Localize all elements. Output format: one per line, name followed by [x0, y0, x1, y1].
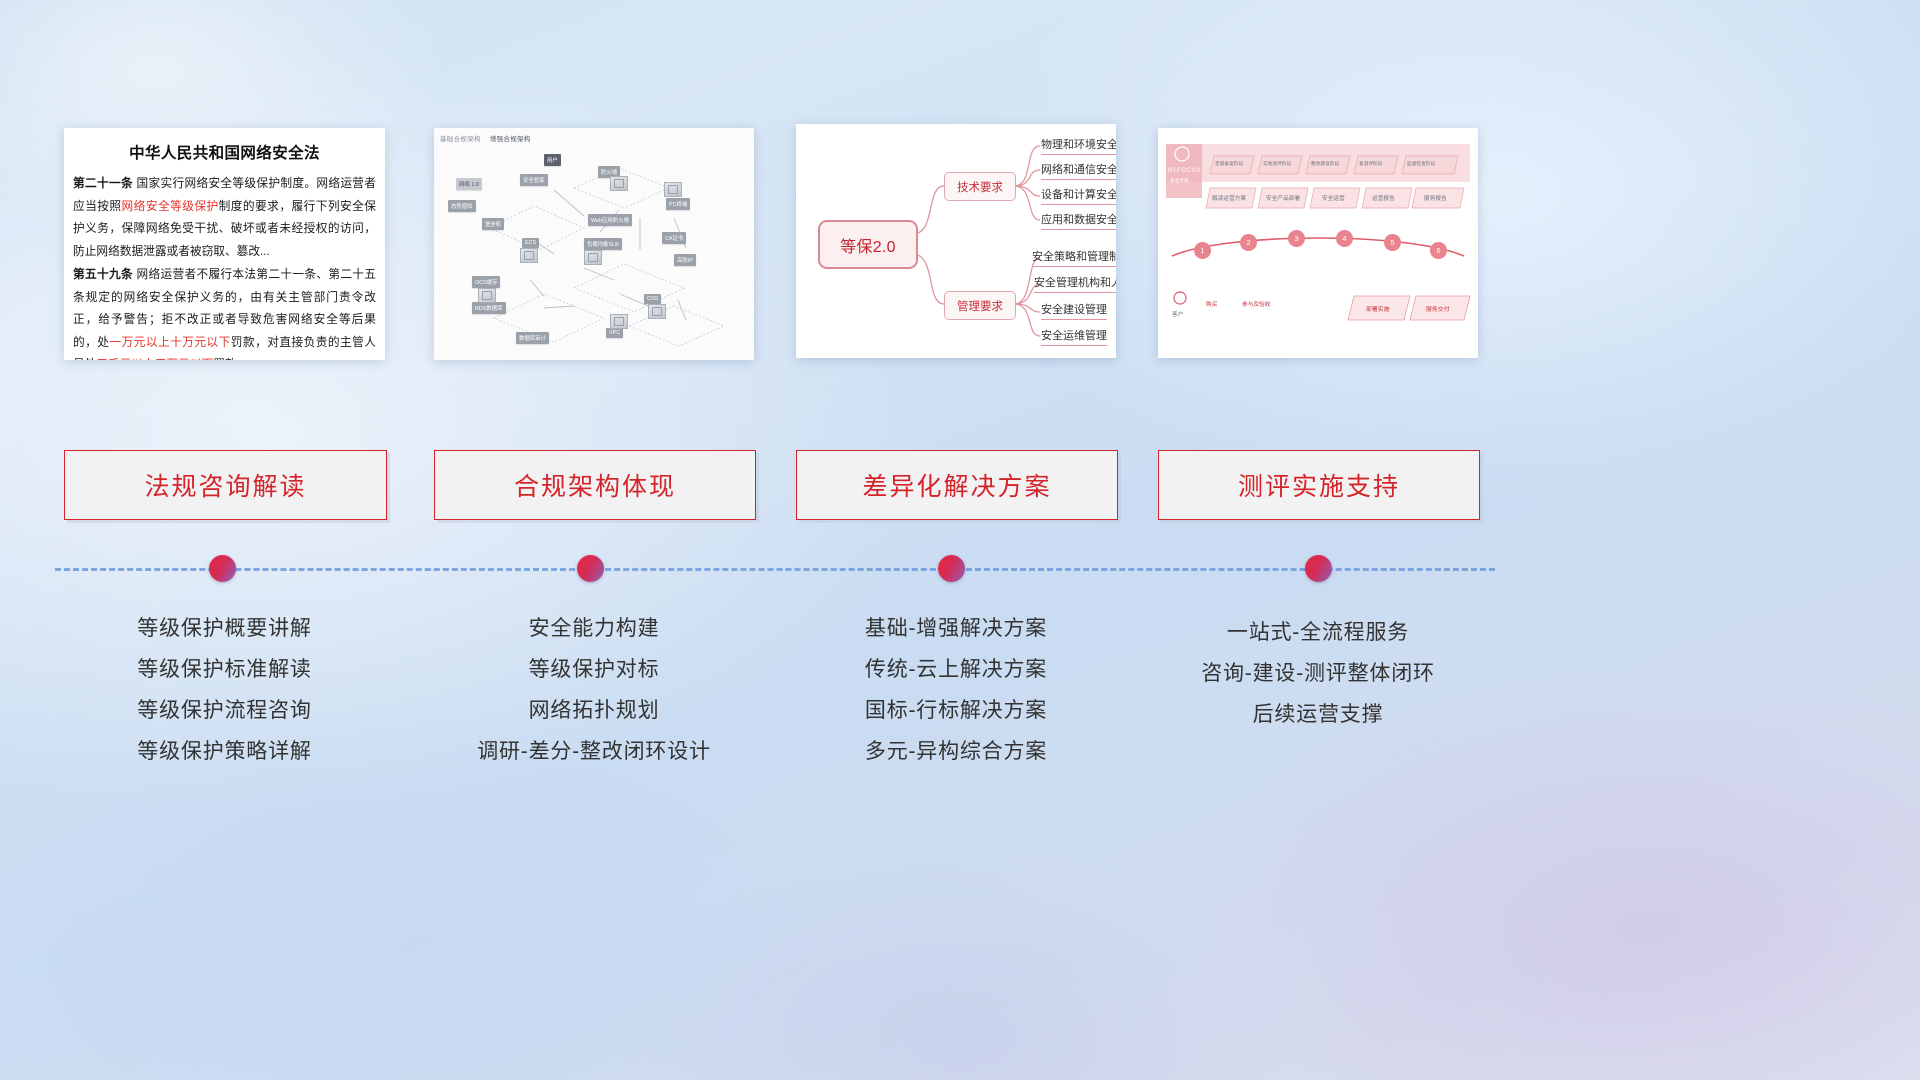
timeline-dashed-line — [55, 568, 1495, 571]
column-list-4: 一站式-全流程服务 咨询-建设-测评整体闭环 后续运营支撑 — [1158, 612, 1478, 735]
nsfocus-roadmap-card[interactable]: NSFOCUS 安全专家 定级备案阶段 实地测评阶段 整改建设阶段 复测评阶段 … — [1158, 128, 1478, 358]
roadmap-bottom-right-label: 服务交付 — [1426, 304, 1450, 313]
list-item: 咨询-建设-测评整体闭环 — [1158, 653, 1478, 694]
server-icon — [648, 304, 666, 319]
column-title-box-2[interactable]: 合规架构体现 — [434, 450, 756, 520]
roadmap-step: 3 — [1288, 230, 1305, 247]
roadmap-bottom-right-label: 部署实施 — [1366, 304, 1390, 313]
mindmap-leaf: 安全建设管理 — [1041, 301, 1107, 320]
mindmap-leaf: 应用和数据安全 — [1041, 211, 1116, 230]
architecture-node: RDS数据库 — [472, 302, 506, 314]
roadmap-bottom-left-label: 购买 — [1206, 300, 1217, 308]
server-icon — [478, 288, 496, 303]
architecture-node: 高防IP — [674, 254, 696, 266]
server-icon — [584, 250, 602, 265]
architecture-node: PC终端 — [666, 198, 690, 210]
slide-stage: 中华人民共和国网络安全法 第二十一条 国家实行网络安全等级保护制度。网络运营者应… — [0, 0, 1920, 1080]
column-title-box-3[interactable]: 差异化解决方案 — [796, 450, 1118, 520]
architecture-node: CA证书 — [662, 232, 686, 244]
brand-sub-label: 安全专家 — [1170, 178, 1189, 184]
column-title-label: 测评实施支持 — [1238, 467, 1400, 503]
architecture-node: 安全管家 — [520, 174, 548, 186]
mindmap-leaf: 设备和计算安全 — [1041, 186, 1116, 205]
roadmap-diagram: NSFOCUS 安全专家 定级备案阶段 实地测评阶段 整改建设阶段 复测评阶段 … — [1158, 128, 1478, 358]
mindmap-branch-technical: 技术要求 — [944, 172, 1016, 201]
column-title-box-4[interactable]: 测评实施支持 — [1158, 450, 1480, 520]
architecture-node: 堡垒机 — [482, 218, 504, 230]
column-list-3: 基础-增强解决方案 传统-云上解决方案 国标-行标解决方案 多元-异构综合方案 — [796, 608, 1116, 772]
roadmap-stage-label: 安全运营 — [1322, 194, 1345, 202]
law-text-card[interactable]: 中华人民共和国网络安全法 第二十一条 国家实行网络安全等级保护制度。网络运营者应… — [64, 128, 385, 360]
law-card-title: 中华人民共和国网络安全法 — [64, 141, 385, 163]
server-icon — [664, 182, 682, 197]
architecture-node: VPC — [606, 328, 623, 338]
mindmap-root: 等保2.0 — [818, 220, 918, 269]
law-run-highlight: 网络安全等级保护 — [122, 200, 219, 213]
column-list-1: 等级保护概要讲解 等级保护标准解读 等级保护流程咨询 等级保护策略详解 — [64, 608, 385, 772]
architecture-node: OCS缓存 — [472, 276, 500, 288]
list-item: 多元-异构综合方案 — [796, 731, 1116, 772]
roadmap-stage-label: 解读运营方案 — [1212, 194, 1246, 202]
timeline-marker-2[interactable] — [577, 555, 604, 582]
list-item: 等级保护标准解读 — [64, 649, 385, 690]
mindmap-leaf: 物理和环境安全 — [1041, 136, 1116, 155]
architecture-node: OSS — [644, 294, 661, 304]
architecture-diagram: 基础合规架构增强合规架构 — [434, 128, 754, 360]
architecture-node: 数据库审计 — [516, 332, 549, 344]
list-item: 国标-行标解决方案 — [796, 690, 1116, 731]
compliance-architecture-card[interactable]: 基础合规架构增强合规架构 — [434, 128, 754, 360]
roadmap-step: 6 — [1430, 242, 1447, 259]
mindmap-leaf: 安全运维管理 — [1041, 327, 1107, 346]
roadmap-step: 1 — [1194, 242, 1211, 259]
server-icon — [610, 314, 628, 329]
list-item: 一站式-全流程服务 — [1158, 612, 1478, 653]
architecture-node: ECS — [522, 238, 539, 248]
list-item: 基础-增强解决方案 — [796, 608, 1116, 649]
roadmap-step: 5 — [1384, 234, 1401, 251]
mindmap-card[interactable]: 等保2.0 技术要求 管理要求 物理和环境安全 网络和通信安全 设备和计算安全 … — [796, 124, 1116, 358]
column-title-label: 差异化解决方案 — [862, 467, 1051, 503]
list-item: 等级保护概要讲解 — [64, 608, 385, 649]
law-paragraph: 第五十九条 网络运营者不履行本法第二十一条、第二十五条规定的网络安全保护义务的，… — [73, 264, 376, 360]
architecture-node: 用户 — [544, 154, 561, 166]
server-icon — [610, 176, 628, 191]
server-icon — [520, 248, 538, 263]
architecture-node: 态势感知 — [448, 200, 476, 212]
architecture-node: Web应用防火墙 — [588, 214, 632, 226]
roadmap-top-label: 定级备案阶段 — [1215, 161, 1243, 167]
roadmap-top-label: 整改建设阶段 — [1311, 161, 1339, 167]
roadmap-customer-role: 客户 — [1172, 310, 1183, 318]
list-item: 网络拓扑规划 — [434, 690, 754, 731]
mindmap-branch-management: 管理要求 — [944, 291, 1016, 320]
list-item: 等级保护流程咨询 — [64, 690, 385, 731]
law-run-highlight: 五千元以上五万元以下 — [96, 358, 213, 360]
list-item: 后续运营支撑 — [1158, 694, 1478, 735]
roadmap-top-label: 监督检查阶段 — [1407, 161, 1435, 167]
column-title-box-1[interactable]: 法规咨询解读 — [64, 450, 387, 520]
law-paragraph: 第二十一条 国家实行网络安全等级保护制度。网络运营者应当按照网络安全等级保护制度… — [73, 173, 376, 263]
list-item: 等级保护对标 — [434, 649, 754, 690]
law-article-number: 第五十九条 — [73, 268, 133, 281]
column-title-label: 法规咨询解读 — [144, 467, 306, 503]
roadmap-stage-label: 服务报告 — [1424, 194, 1447, 202]
roadmap-top-label: 复测评阶段 — [1359, 161, 1382, 167]
roadmap-step: 2 — [1240, 234, 1257, 251]
law-card-body: 第二十一条 国家实行网络安全等级保护制度。网络运营者应当按照网络安全等级保护制度… — [64, 173, 385, 360]
column-list-2: 安全能力构建 等级保护对标 网络拓扑规划 调研-差分-整改闭环设计 — [434, 608, 754, 772]
list-item: 等级保护策略详解 — [64, 731, 385, 772]
law-run: 罚款。 — [213, 358, 248, 360]
mindmap-leaf: 网络和通信安全 — [1041, 161, 1116, 180]
law-run-highlight: 一万元以上十万元以下 — [109, 336, 230, 349]
column-title-label: 合规架构体现 — [514, 467, 676, 503]
brand-label: NSFOCUS — [1168, 168, 1201, 174]
architecture-node: 网络 1.0 — [456, 178, 482, 190]
architecture-node: 负载均衡SLB — [584, 238, 622, 250]
law-article-number: 第二十一条 — [73, 177, 133, 190]
timeline-marker-1[interactable] — [209, 555, 236, 582]
list-item: 调研-差分-整改闭环设计 — [434, 731, 754, 772]
mindmap-leaf: 安全策略和管理制度 — [1032, 248, 1116, 267]
timeline-marker-4[interactable] — [1305, 555, 1332, 582]
roadmap-step: 4 — [1336, 230, 1353, 247]
list-item: 传统-云上解决方案 — [796, 649, 1116, 690]
list-item: 安全能力构建 — [434, 608, 754, 649]
roadmap-stage-label: 运营报告 — [1372, 194, 1395, 202]
timeline-marker-3[interactable] — [938, 555, 965, 582]
roadmap-top-label: 实地测评阶段 — [1263, 161, 1291, 167]
roadmap-bottom-left-label: 参与及验收 — [1242, 300, 1270, 308]
mindmap-leaf: 安全管理机构和人员 — [1034, 274, 1116, 293]
mindmap-diagram: 等保2.0 技术要求 管理要求 物理和环境安全 网络和通信安全 设备和计算安全 … — [796, 124, 1116, 358]
roadmap-stage-label: 安全产品部署 — [1266, 194, 1300, 202]
